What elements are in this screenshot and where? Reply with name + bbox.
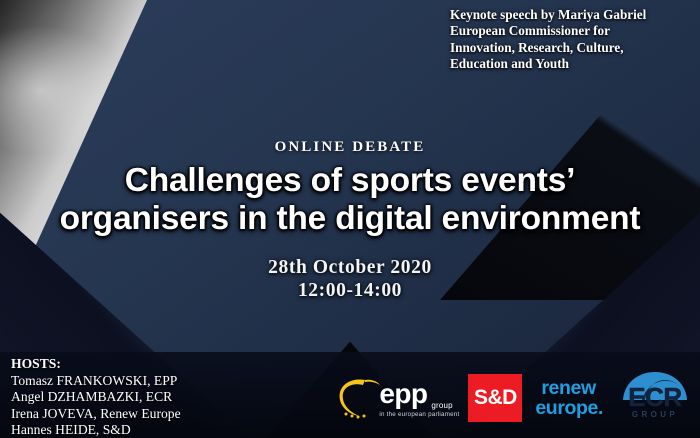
event-datetime: 28th October 2020 12:00-14:00: [0, 256, 700, 302]
hosts-block: HOSTS: Tomasz FRANKOWSKI, EPP Angel DZHA…: [11, 356, 181, 438]
host-item-4: Hannes HEIDE, S&D: [11, 422, 181, 438]
ecr-group-label: GROUP: [616, 410, 694, 419]
epp-group-label: group: [431, 401, 452, 410]
renew-europe-logo: renew europe.: [535, 378, 603, 418]
page-title: Challenges of sports events’ organisers …: [0, 162, 700, 238]
renew-line-2: europe.: [535, 398, 603, 418]
renew-line-1: renew: [535, 378, 603, 398]
event-time: 12:00-14:00: [0, 279, 700, 302]
keynote-line-1: Keynote speech by Mariya Gabriel: [450, 7, 686, 23]
sd-wordmark: S&D: [474, 386, 517, 410]
keynote-speaker-block: Keynote speech by Mariya Gabriel Europea…: [450, 7, 686, 73]
keynote-line-2: European Commissioner for: [450, 23, 686, 39]
logo-strip: epp group in the european parliament S&D…: [335, 362, 694, 434]
epp-wordmark: epp: [379, 380, 427, 408]
event-poster: Keynote speech by Mariya Gabriel Europea…: [0, 0, 700, 438]
keynote-line-3: Innovation, Research, Culture,: [450, 40, 686, 56]
epp-logo: epp group in the european parliament: [335, 371, 455, 425]
event-type-label: ONLINE DEBATE: [0, 139, 700, 156]
title-line-1: Challenges of sports events’: [0, 162, 700, 200]
epp-tagline: in the european parliament: [379, 411, 459, 418]
hosts-label: HOSTS:: [11, 356, 181, 373]
keynote-line-4: Education and Youth: [450, 56, 686, 72]
host-item-2: Angel DZHAMBAZKI, ECR: [11, 389, 181, 406]
title-line-2: organisers in the digital environment: [0, 200, 700, 238]
sd-logo: S&D: [468, 374, 522, 422]
host-item-3: Irena JOVEVA, Renew Europe: [11, 406, 181, 423]
event-date: 28th October 2020: [0, 256, 700, 279]
host-item-1: Tomasz FRANKOWSKI, EPP: [11, 373, 181, 390]
ecr-logo: ECR GROUP: [616, 370, 694, 426]
ecr-wordmark: ECR: [616, 384, 694, 410]
